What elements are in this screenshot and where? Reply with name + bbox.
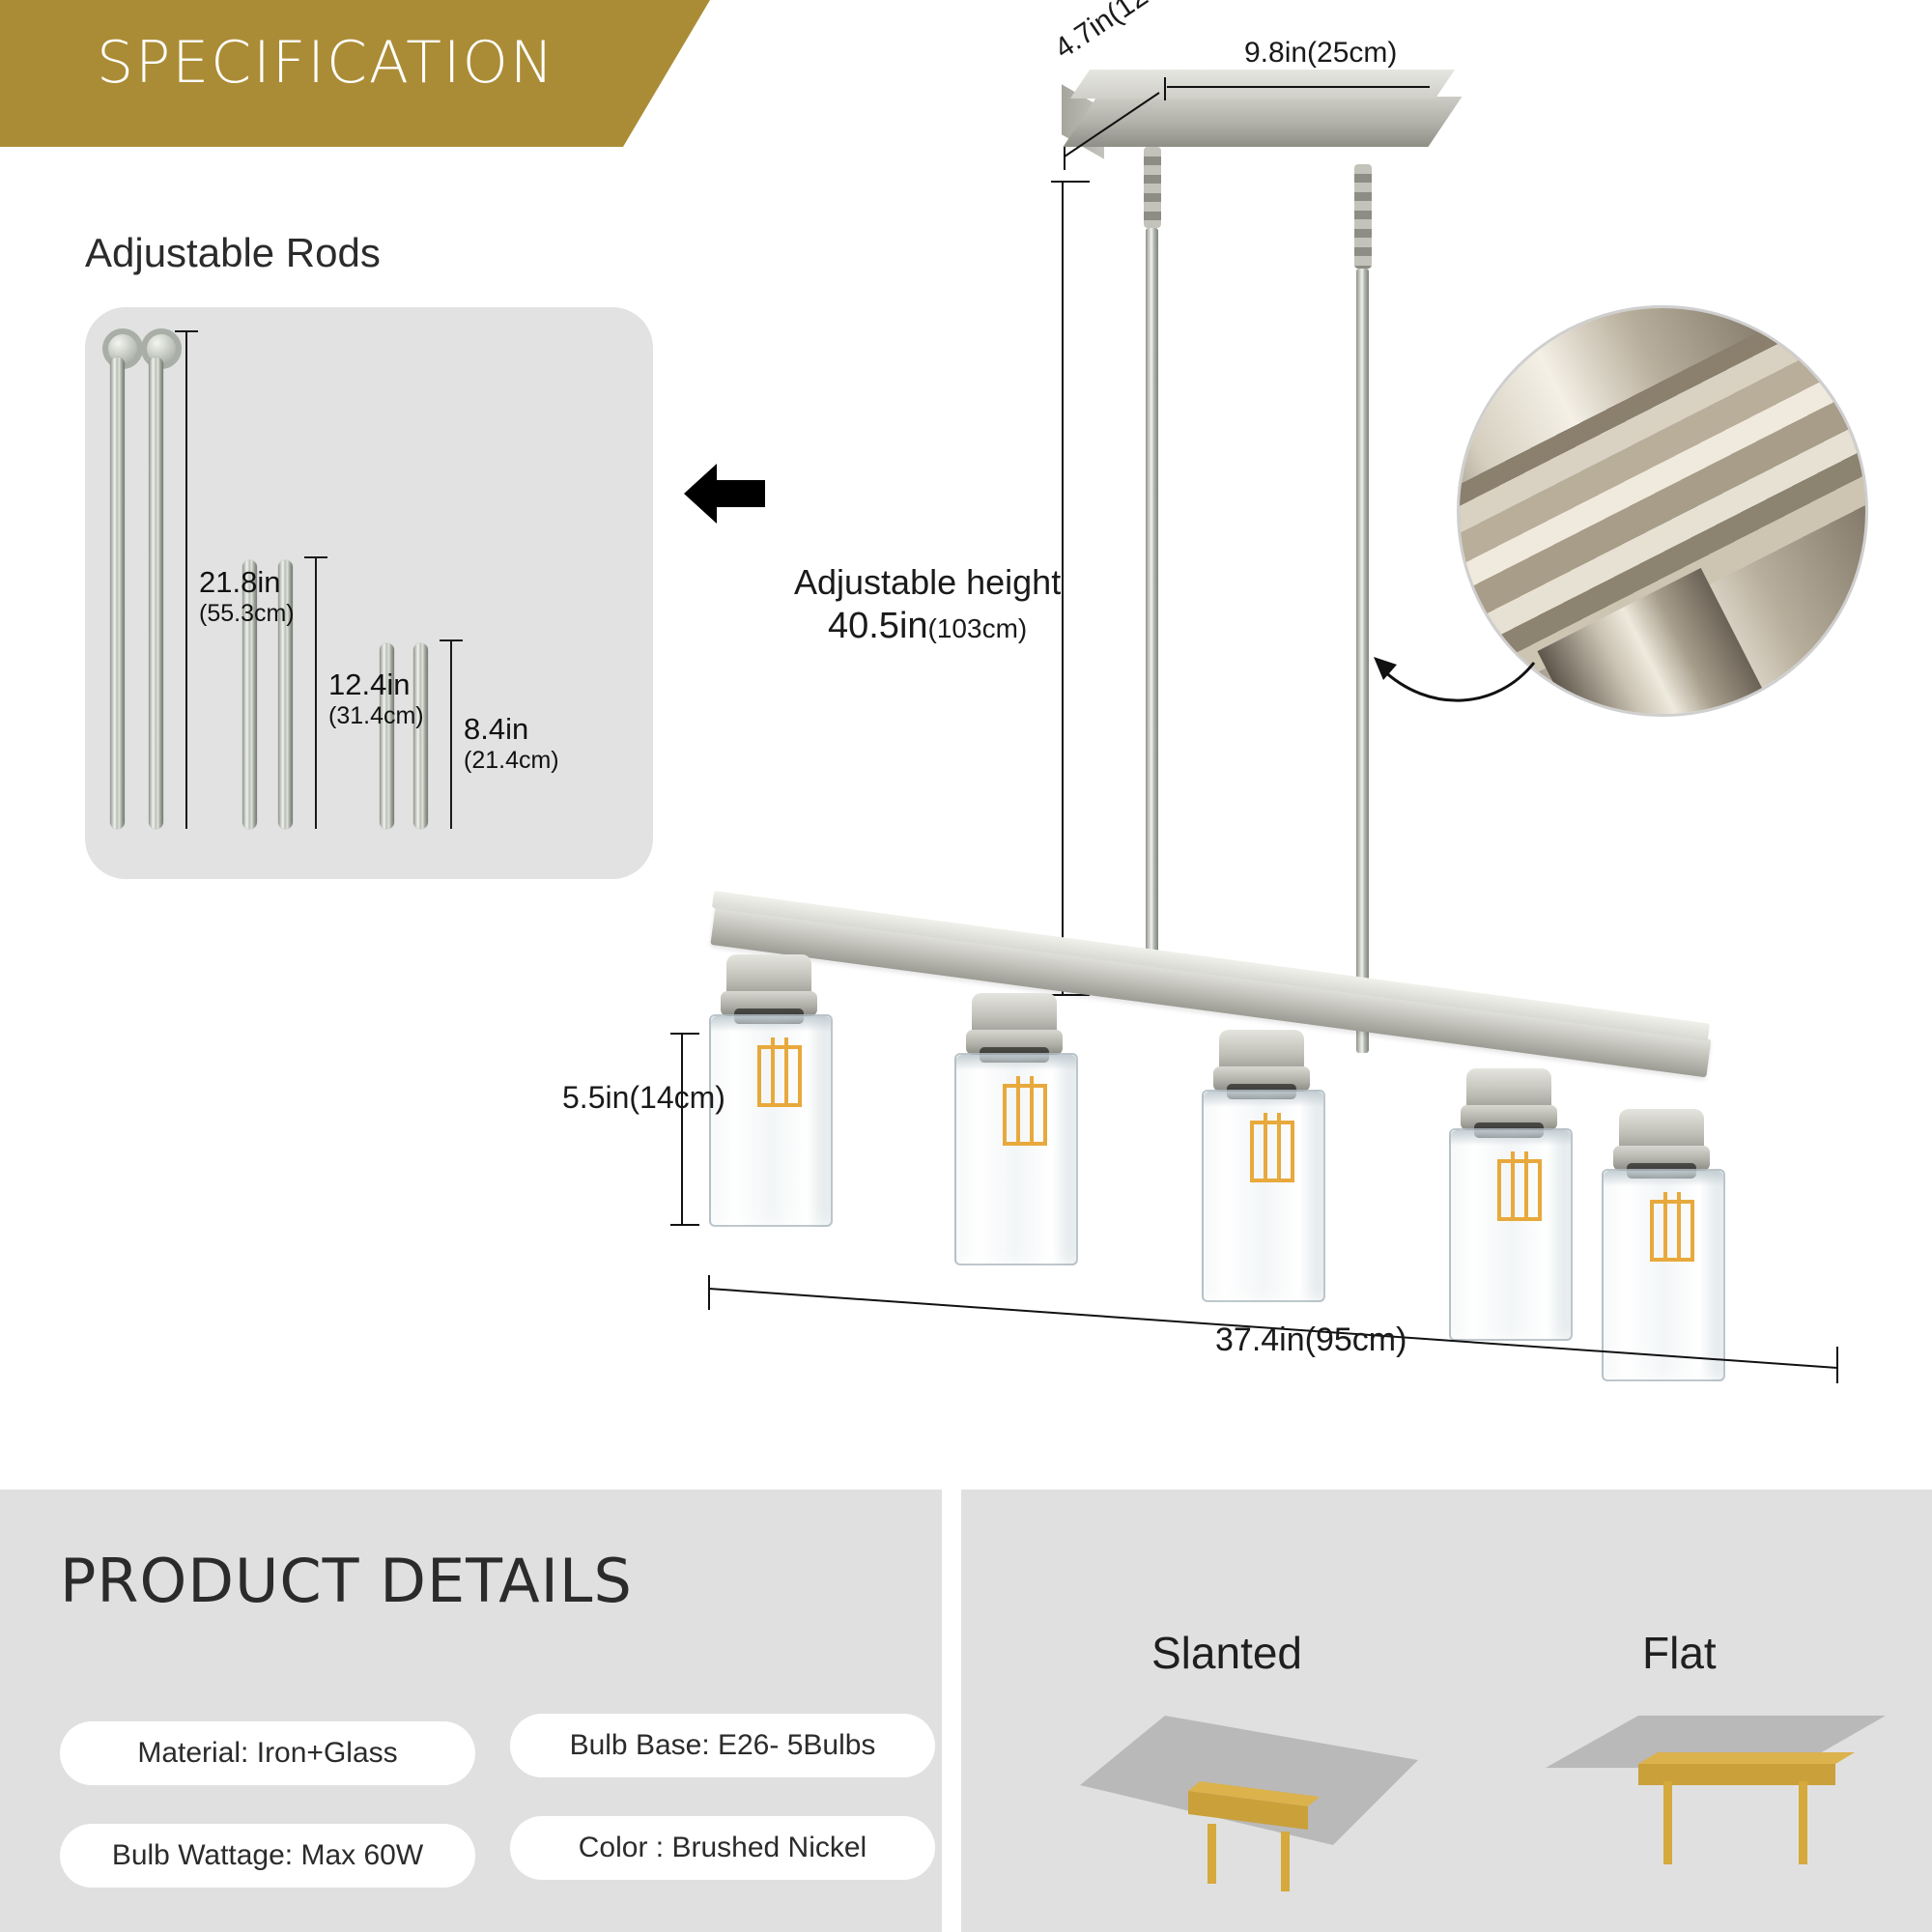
detail-pill-wattage-label: Bulb Wattage: Max 60W — [112, 1839, 423, 1872]
fixture-width-dimension: 37.4in(95cm) — [1215, 1321, 1406, 1359]
adjustable-rods-heading: Adjustable Rods — [85, 230, 381, 276]
rod-dimension-medium-cm: (31.4cm) — [328, 702, 424, 729]
fixture-bar-top — [712, 891, 1710, 1040]
bulb-filament-icon — [757, 1037, 802, 1121]
rod-long — [110, 357, 125, 829]
detail-pill-material: Material: Iron+Glass — [60, 1721, 475, 1785]
dimension-cap — [440, 639, 463, 641]
adjustable-rods-panel: 21.8in (55.3cm) 12.4in (31.4cm) 8.4in (2… — [85, 307, 653, 879]
rod-dimension-short-cm: (21.4cm) — [464, 747, 559, 774]
drop-rod-right — [1356, 269, 1369, 1053]
dimension-cap — [304, 556, 327, 558]
detail-pill-color: Color : Brushed Nickel — [510, 1816, 935, 1880]
slanted-ceiling-illustration — [1080, 1710, 1428, 1903]
adjustable-height-text: Adjustable height — [794, 560, 1061, 604]
adjustable-height-label: Adjustable height 40.5in(103cm) — [794, 560, 1061, 650]
rod-dimension-long: 21.8in (55.3cm) — [199, 566, 295, 627]
flat-mount-label: Flat — [1642, 1627, 1717, 1679]
dimension-line-medium — [315, 556, 317, 829]
detail-pill-color-label: Color : Brushed Nickel — [579, 1832, 867, 1864]
drop-rod-left — [1146, 228, 1158, 991]
chain-right — [1354, 164, 1372, 269]
bulb-filament-icon — [1497, 1151, 1542, 1235]
rod-dimension-long-cm: (55.3cm) — [199, 600, 295, 627]
bulb-filament-icon — [1003, 1076, 1047, 1159]
slanted-mount-label: Slanted — [1151, 1627, 1302, 1679]
shade-height-guides — [653, 1024, 711, 1236]
left-arrow-icon — [684, 464, 765, 524]
flat-ceiling-illustration — [1546, 1710, 1893, 1903]
fixture-bar — [710, 906, 1711, 1077]
rod-long — [149, 357, 163, 829]
rod-dimension-short-in: 8.4in — [464, 713, 559, 747]
detail-pill-bulb-base: Bulb Base: E26- 5Bulbs — [510, 1714, 935, 1777]
rod-dimension-long-in: 21.8in — [199, 566, 295, 600]
chain-left — [1144, 147, 1161, 228]
canopy-width-dimension: 9.8in(25cm) — [1244, 37, 1397, 70]
adjustable-height-value: 40.5in — [828, 606, 928, 646]
rod-dimension-medium-in: 12.4in — [328, 668, 424, 702]
rod-dimension-short: 8.4in (21.4cm) — [464, 713, 559, 774]
bulb-filament-icon — [1650, 1192, 1694, 1275]
product-details-title: PRODUCT DETAILS — [60, 1546, 633, 1616]
callout-pointer — [1372, 609, 1565, 744]
bulb-filament-icon — [1250, 1113, 1294, 1196]
adjustable-height-cm: (103cm) — [928, 613, 1028, 643]
dimension-cap — [175, 330, 198, 332]
page-title: SPECIFICATION — [97, 29, 555, 97]
rod-dimension-medium: 12.4in (31.4cm) — [328, 668, 424, 729]
detail-pill-bulb-base-label: Bulb Base: E26- 5Bulbs — [570, 1729, 876, 1762]
shade-height-dimension: 5.5in(14cm) — [562, 1080, 725, 1116]
dimension-line-long — [185, 330, 187, 829]
detail-pill-wattage: Bulb Wattage: Max 60W — [60, 1824, 475, 1888]
detail-pill-material-label: Material: Iron+Glass — [137, 1737, 397, 1770]
dimension-line-short — [450, 639, 452, 829]
